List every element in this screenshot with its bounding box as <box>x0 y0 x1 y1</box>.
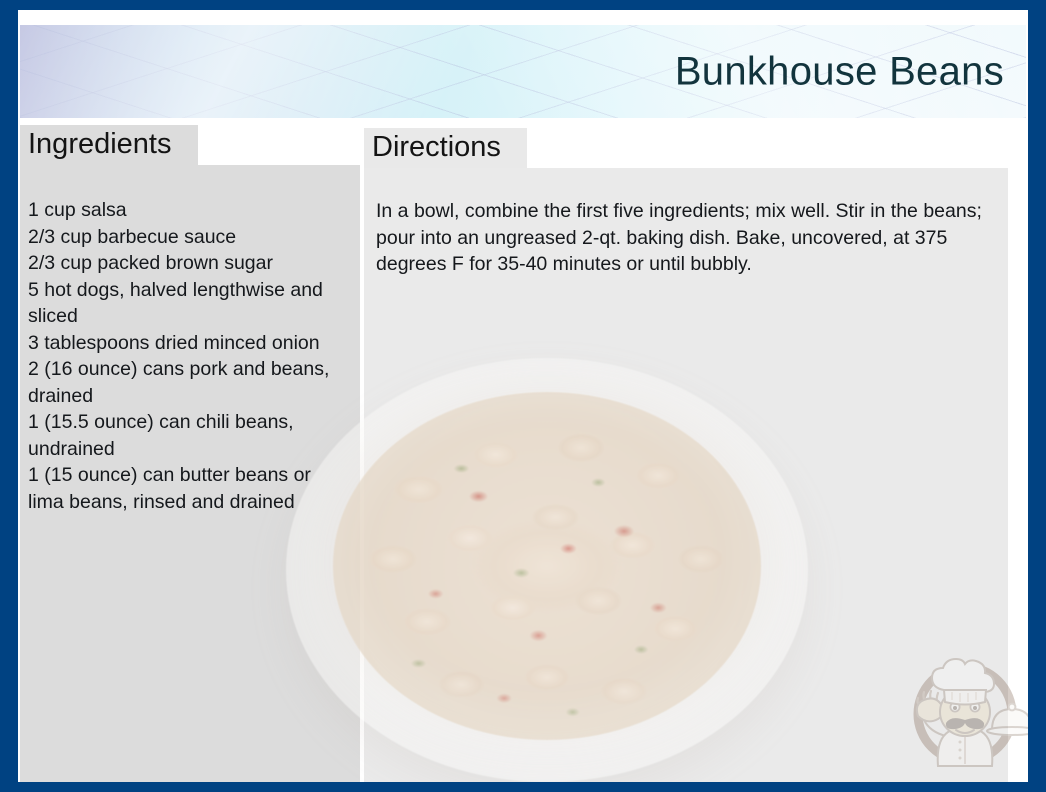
list-item: 1 (15.5 ounce) can chili beans, undraine… <box>28 409 352 462</box>
list-item: 3 tablespoons dried minced onion <box>28 330 352 357</box>
frame-right <box>1028 0 1046 792</box>
section-heading-ingredients: Ingredients <box>20 125 198 167</box>
section-heading-directions: Directions <box>364 128 527 170</box>
frame-bottom <box>0 782 1046 792</box>
ingredients-list: 1 cup salsa 2/3 cup barbecue sauce 2/3 c… <box>20 165 360 515</box>
list-item: 2/3 cup packed brown sugar <box>28 250 352 277</box>
directions-text: In a bowl, combine the first five ingred… <box>364 168 1008 278</box>
page-title: Bunkhouse Beans <box>675 49 1004 94</box>
list-item: 2 (16 ounce) cans pork and beans, draine… <box>28 356 352 409</box>
list-item: 5 hot dogs, halved lengthwise and sliced <box>28 277 352 330</box>
directions-panel: In a bowl, combine the first five ingred… <box>364 168 1008 782</box>
ingredients-panel: 1 cup salsa 2/3 cup barbecue sauce 2/3 c… <box>20 165 360 782</box>
list-item: 2/3 cup barbecue sauce <box>28 224 352 251</box>
recipe-card: Bunkhouse Beans Ingredients Directions 1… <box>0 0 1046 792</box>
list-item: 1 cup salsa <box>28 197 352 224</box>
frame-top <box>0 0 1046 10</box>
recipe-page: Bunkhouse Beans Ingredients Directions 1… <box>18 10 1028 782</box>
frame-left <box>0 0 18 792</box>
list-item: 1 (15 ounce) can butter beans or lima be… <box>28 462 352 515</box>
header-banner: Bunkhouse Beans <box>20 25 1026 118</box>
